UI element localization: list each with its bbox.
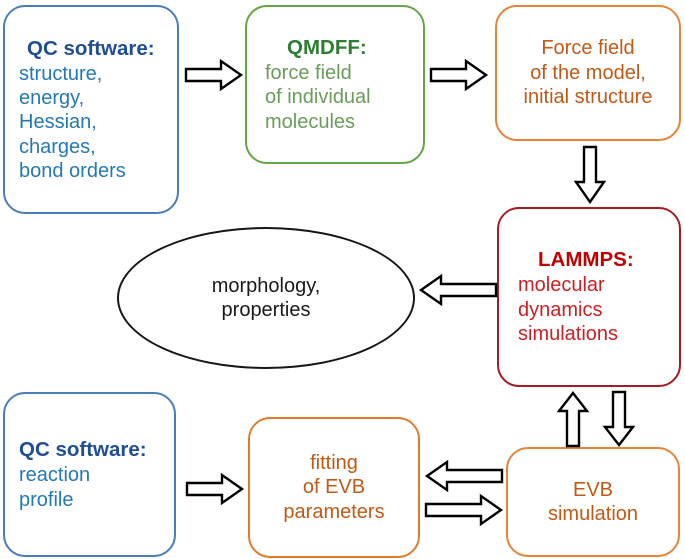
node-line: Hessian, xyxy=(19,110,97,134)
arrow-right-icon-fitting-to-evb xyxy=(425,495,503,525)
node-line: parameters xyxy=(283,500,384,524)
node-line: properties xyxy=(222,298,311,322)
node-line: of the model, xyxy=(530,61,646,85)
node-line: force field xyxy=(265,61,352,85)
node-line: initial structure xyxy=(524,85,653,109)
node-morphology-properties[interactable]: morphology, properties xyxy=(117,227,415,369)
node-heading: QC software: xyxy=(19,36,155,61)
node-force-field[interactable]: Force field of the model, initial struct… xyxy=(495,5,681,141)
node-line: of individual xyxy=(265,85,371,109)
node-line: energy, xyxy=(19,86,84,110)
node-line: of EVB xyxy=(303,475,365,499)
node-line: simulations xyxy=(518,322,618,346)
node-line: fitting xyxy=(310,451,358,475)
arrow-down-icon-lammps-to-evb xyxy=(602,391,636,447)
node-qmdff[interactable]: QMDFF: force field of individual molecul… xyxy=(245,5,425,164)
node-line: morphology, xyxy=(212,274,321,298)
arrow-up-icon-evb-to-lammps xyxy=(556,391,590,447)
node-line: charges, xyxy=(19,135,96,159)
arrow-left-icon-evb-to-fitting xyxy=(425,461,503,491)
node-line: molecular xyxy=(518,273,605,297)
node-line: molecules xyxy=(265,110,355,134)
node-qc-software-top[interactable]: QC software: structure, energy, Hessian,… xyxy=(3,5,179,214)
node-line: bond orders xyxy=(19,159,126,183)
arrow-right-icon-qc-bottom-to-fitting xyxy=(186,473,244,505)
node-lammps[interactable]: LAMMPS: molecular dynamics simulations xyxy=(497,207,681,387)
arrow-right-icon-qmdff-to-force-field xyxy=(430,59,488,91)
arrow-right-icon-qc-top-to-qmdff xyxy=(185,59,243,91)
arrow-down-icon-force-field-to-lammps xyxy=(573,146,607,204)
node-line: EVB xyxy=(573,478,613,502)
node-heading: QMDFF: xyxy=(265,35,367,60)
arrow-left-icon-lammps-to-morphology xyxy=(419,274,497,306)
node-heading: LAMMPS: xyxy=(518,247,634,272)
node-line: simulation xyxy=(548,502,638,526)
node-qc-software-bottom[interactable]: QC software: reaction profile xyxy=(3,392,176,557)
node-line: reaction xyxy=(19,463,90,487)
node-heading: QC software: xyxy=(19,437,147,462)
node-fitting-evb-parameters[interactable]: fitting of EVB parameters xyxy=(248,417,420,558)
node-line: Force field xyxy=(541,36,634,60)
node-line: dynamics xyxy=(518,298,602,322)
node-evb-simulation[interactable]: EVB simulation xyxy=(506,447,680,557)
node-line: structure, xyxy=(19,62,102,86)
diagram-canvas: QC software: structure, energy, Hessian,… xyxy=(0,0,685,559)
node-line: profile xyxy=(19,488,73,512)
